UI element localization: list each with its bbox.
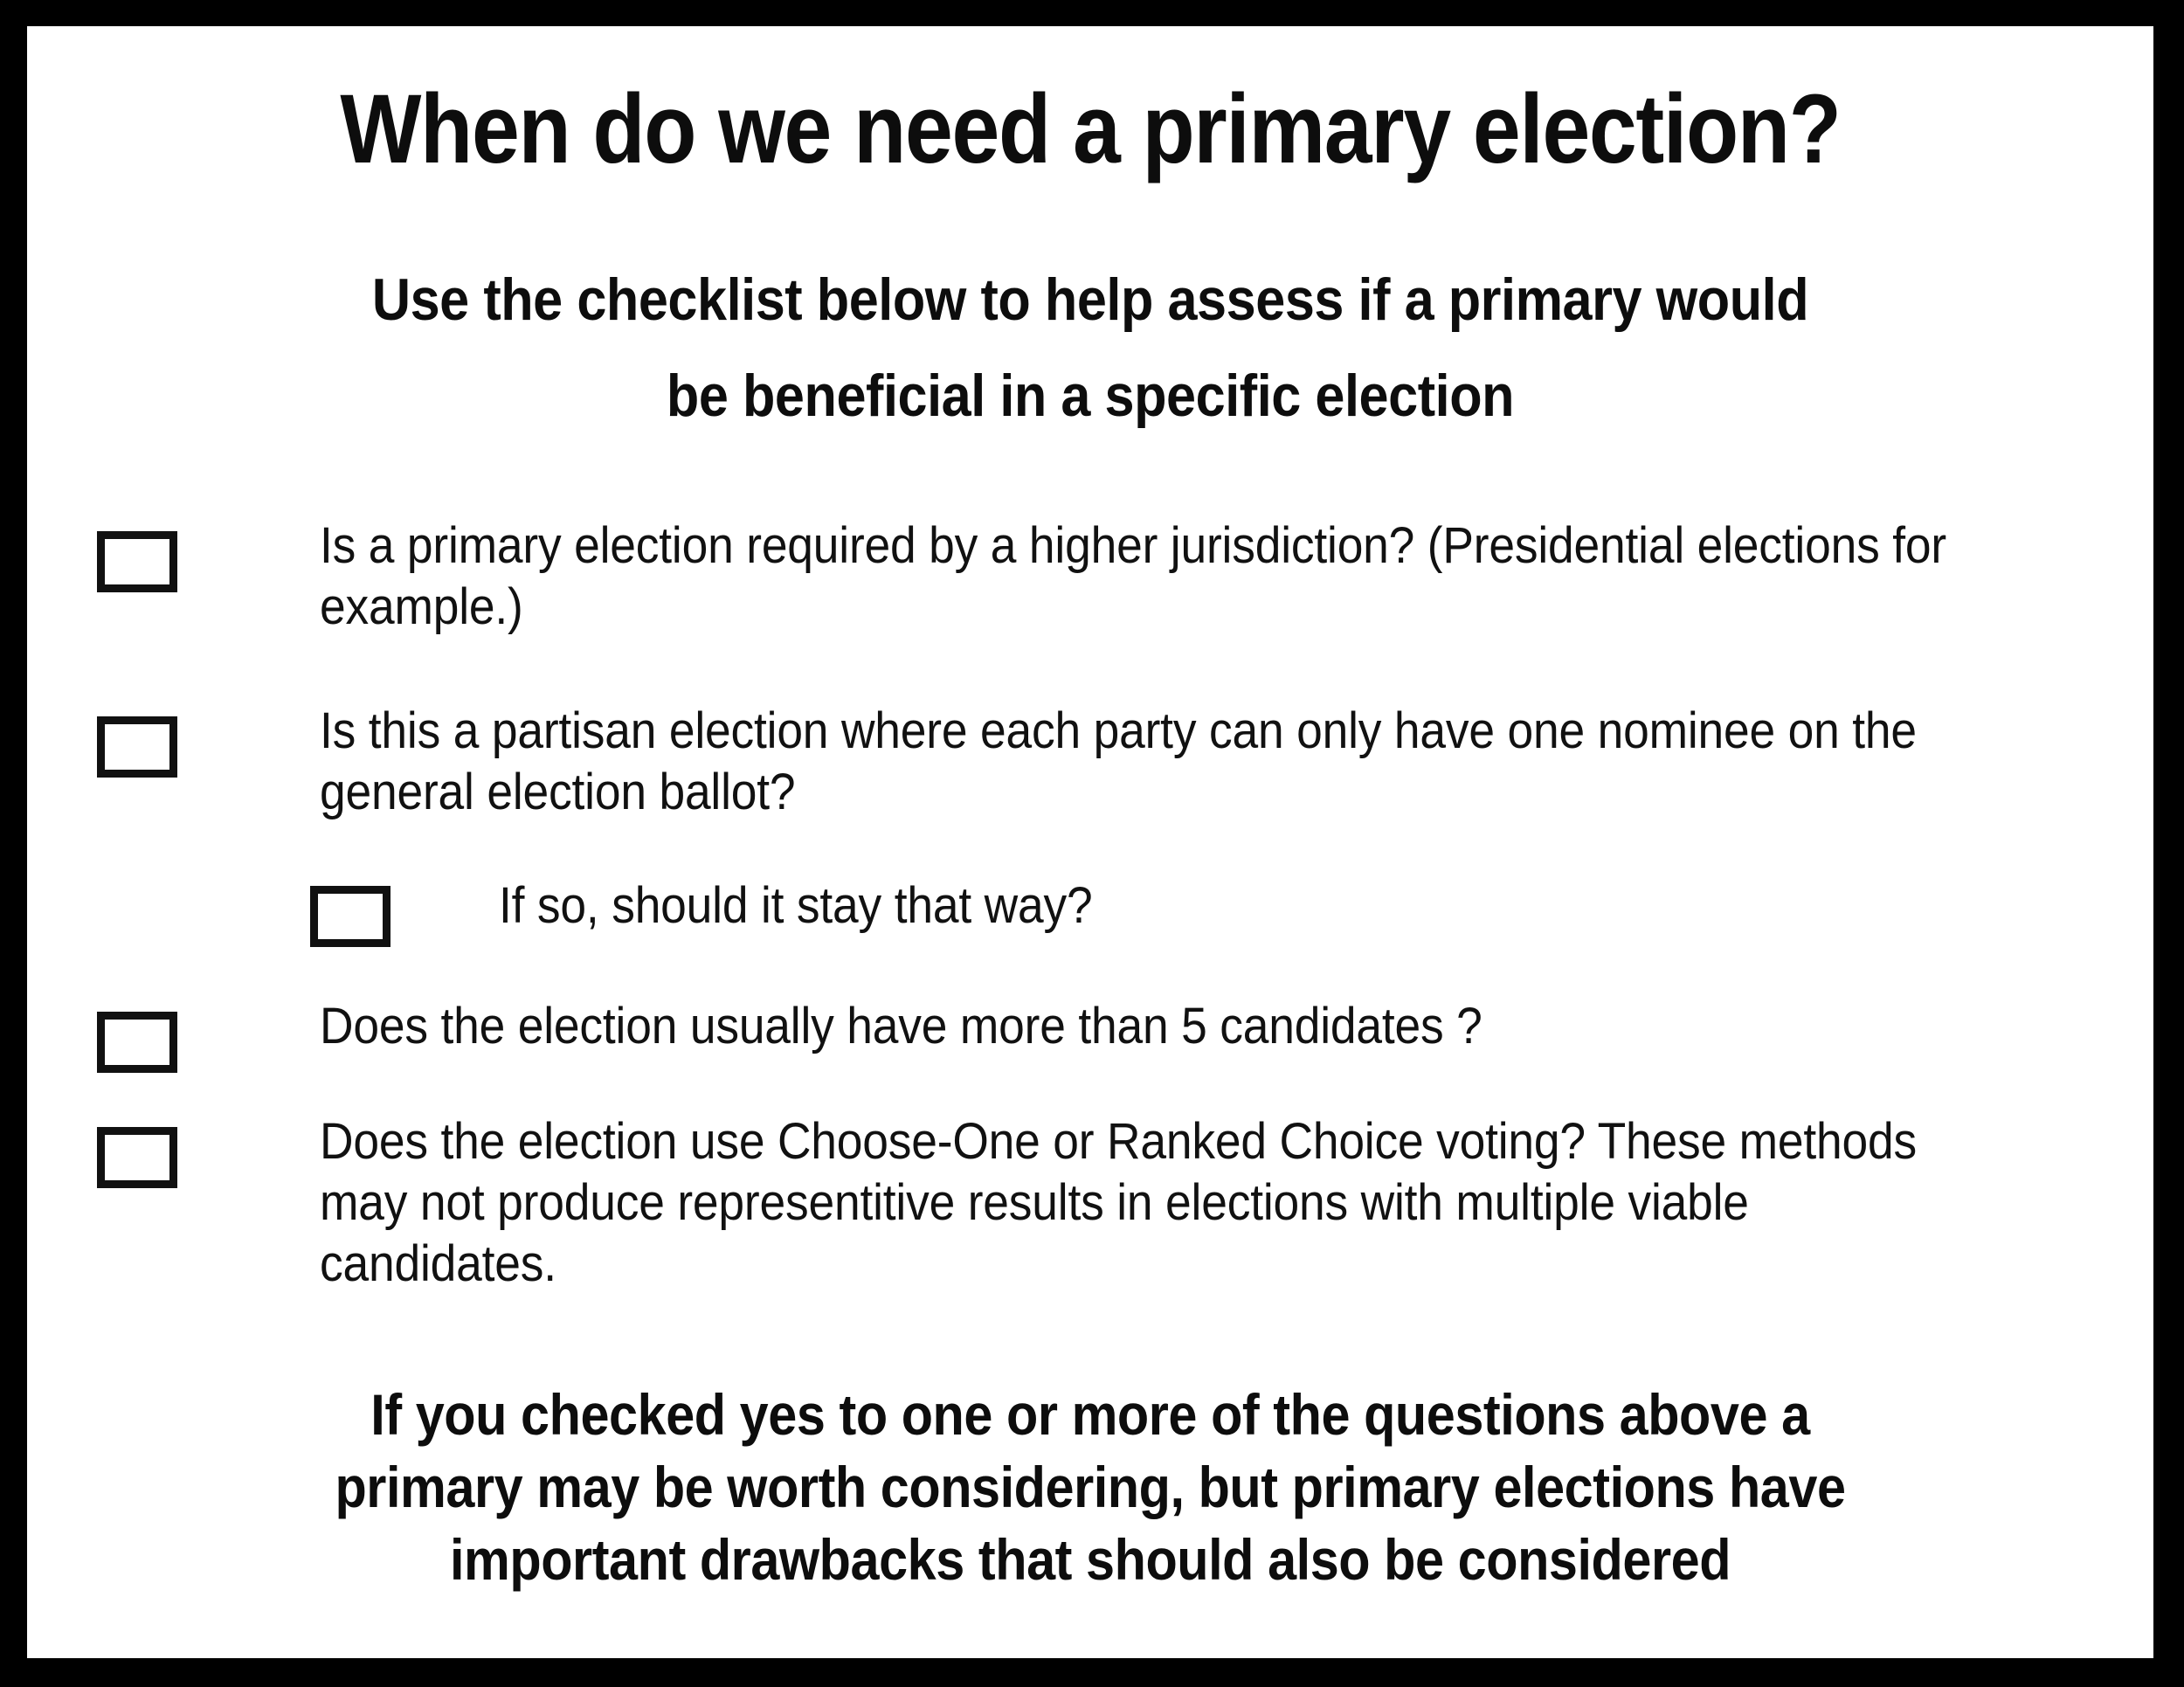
footer-note-line-3: important drawbacks that should also be … (134, 1524, 2048, 1596)
footer-note-line-2: primary may be worth considering, but pr… (134, 1451, 2048, 1524)
page-subtitle-line-1: Use the checklist below to help assess i… (134, 252, 2048, 348)
footer-note-line-1: If you checked yes to one or more of the… (134, 1379, 2048, 1451)
page-title: When do we need a primary election? (155, 79, 2026, 180)
checklist-item-5-label: Does the election use Choose-One or Rank… (320, 1111, 1975, 1295)
checkbox-item-5[interactable] (97, 1127, 177, 1188)
checkbox-item-3[interactable] (310, 886, 390, 947)
checklist-item-2[interactable]: Is this a partisan election where each p… (27, 701, 2153, 823)
checklist-item-4-label: Does the election usually have more than… (320, 996, 1975, 1057)
checklist-item-4[interactable]: Does the election usually have more than… (27, 996, 2153, 1057)
checklist-item-1[interactable]: Is a primary election required by a high… (27, 515, 2153, 638)
checklist-item-1-label: Is a primary election required by a high… (320, 515, 1975, 638)
checkbox-item-1[interactable] (97, 531, 177, 592)
checkbox-item-2[interactable] (97, 716, 177, 778)
checklist-item-5[interactable]: Does the election use Choose-One or Rank… (27, 1111, 2153, 1295)
checklist-item-3-sub[interactable]: If so, should it stay that way? (27, 875, 2153, 937)
checklist-item-3-label: If so, should it stay that way? (499, 875, 1865, 937)
checkbox-item-4[interactable] (97, 1012, 177, 1073)
footer-note: If you checked yes to one or more of the… (27, 1379, 2153, 1596)
slide-content-card: When do we need a primary election? Use … (27, 26, 2153, 1658)
page-subtitle-line-2: be beneficial in a specific election (134, 348, 2048, 444)
slide-frame: When do we need a primary election? Use … (0, 0, 2184, 1687)
page-subtitle: Use the checklist below to help assess i… (27, 252, 2153, 444)
checklist-item-2-label: Is this a partisan election where each p… (320, 701, 1975, 823)
